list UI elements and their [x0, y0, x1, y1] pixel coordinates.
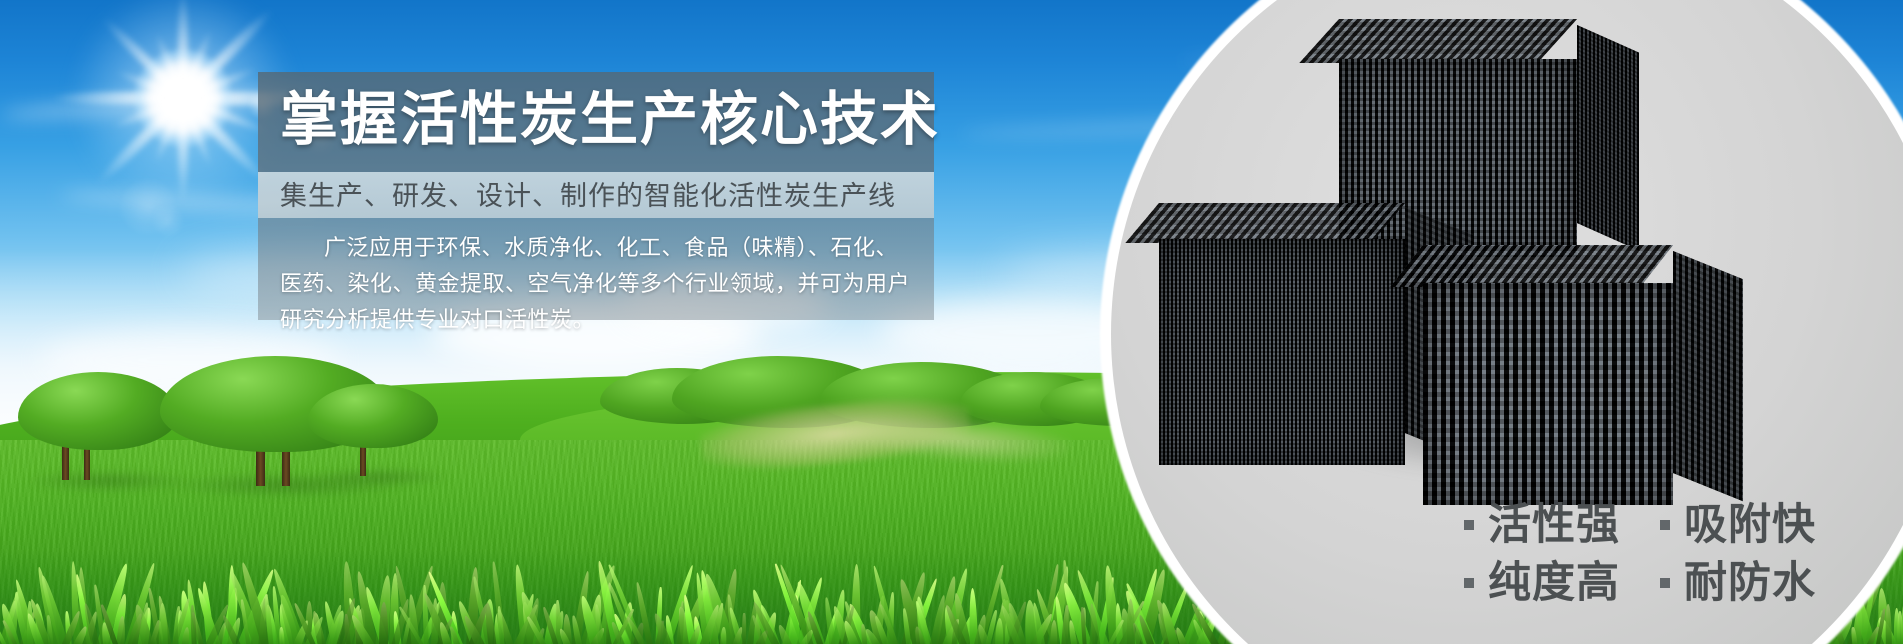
tree-crown — [308, 384, 438, 448]
headline-bar: 掌握活性炭生产核心技术 — [258, 72, 934, 172]
bullet-icon — [1464, 520, 1474, 530]
feature-item-waterproof: 耐防水 — [1660, 554, 1816, 612]
block-front-face — [1159, 239, 1405, 465]
carbon-block-right — [1423, 245, 1755, 513]
feature-list: 活性强 吸附快 纯度高 耐防水 — [1402, 496, 1872, 626]
bullet-icon — [1464, 578, 1474, 588]
bullet-icon — [1660, 578, 1670, 588]
tree-shadow — [312, 468, 452, 486]
feature-item-purity: 纯度高 — [1464, 554, 1620, 612]
feature-label: 耐防水 — [1684, 554, 1816, 612]
lens-flare — [153, 206, 183, 236]
grass-blade — [742, 613, 746, 644]
feature-row: 活性强 吸附快 — [1402, 496, 1872, 556]
bullet-icon — [1660, 520, 1670, 530]
block-top-face — [1125, 203, 1405, 243]
feature-label: 活性强 — [1488, 496, 1620, 554]
feature-label: 纯度高 — [1488, 554, 1620, 612]
tree — [308, 384, 438, 480]
tree-crown — [18, 372, 178, 450]
feature-item-activity: 活性强 — [1464, 496, 1620, 554]
body-paragraph: 广泛应用于环保、水质净化、化工、食品（味精）、石化、医药、染化、黄金提取、空气净… — [280, 230, 916, 338]
headline-panel: 掌握活性炭生产核心技术 集生产、研发、设计、制作的智能化活性炭生产线 广泛应用于… — [258, 72, 934, 320]
block-top-face — [1299, 19, 1577, 63]
block-side-face — [1577, 25, 1639, 251]
promo-banner: 掌握活性炭生产核心技术 集生产、研发、设计、制作的智能化活性炭生产线 广泛应用于… — [0, 0, 1903, 644]
block-side-face — [1673, 251, 1743, 501]
feature-item-adsorption: 吸附快 — [1660, 496, 1816, 554]
block-top-face — [1390, 245, 1673, 287]
block-front-face — [1423, 283, 1673, 505]
sun-core — [135, 50, 231, 146]
body-bar: 广泛应用于环保、水质净化、化工、食品（味精）、石化、医药、染化、黄金提取、空气净… — [258, 218, 934, 320]
feature-label: 吸附快 — [1684, 496, 1816, 554]
grass-blade — [158, 603, 168, 644]
feature-row: 纯度高 耐防水 — [1402, 554, 1872, 614]
subtitle-bar: 集生产、研发、设计、制作的智能化活性炭生产线 — [258, 172, 934, 218]
page-subtitle: 集生产、研发、设计、制作的智能化活性炭生产线 — [280, 177, 896, 215]
tree — [18, 372, 178, 482]
page-title: 掌握活性炭生产核心技术 — [280, 83, 940, 157]
